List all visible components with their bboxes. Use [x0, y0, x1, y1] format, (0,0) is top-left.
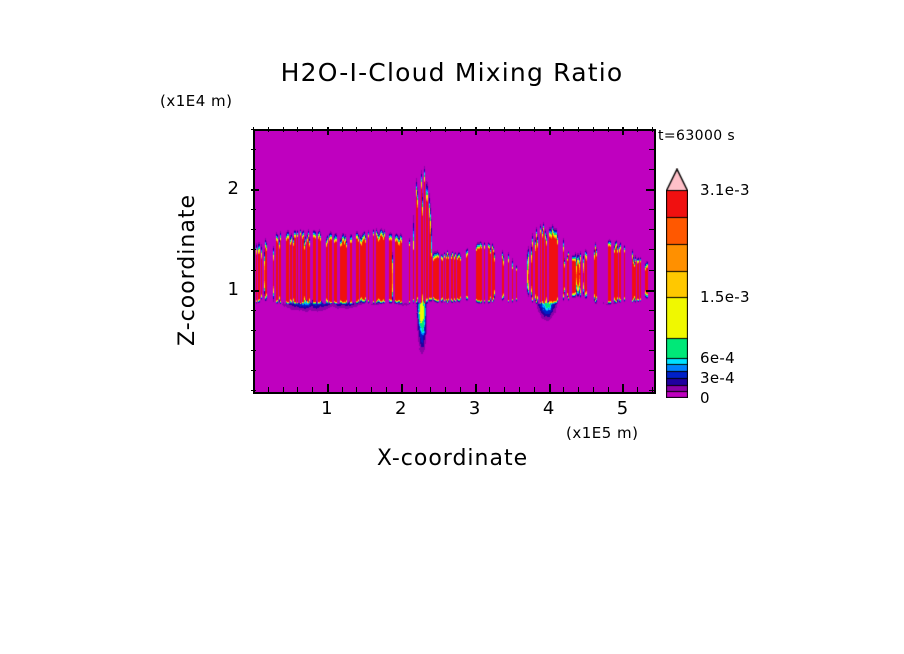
tick-mark — [251, 169, 256, 170]
tick-mark — [489, 127, 490, 132]
tick-mark — [251, 350, 256, 351]
x-tick-label: 4 — [529, 398, 569, 419]
tick-mark — [460, 127, 461, 132]
tick-mark — [401, 384, 403, 392]
tick-mark — [283, 387, 284, 392]
tick-mark — [578, 127, 579, 132]
tick-mark — [489, 387, 490, 392]
tick-mark — [608, 127, 609, 132]
tick-mark — [401, 127, 403, 135]
tick-mark — [342, 387, 343, 392]
tick-mark — [251, 290, 259, 292]
tick-mark — [649, 270, 654, 271]
tick-mark — [578, 387, 579, 392]
tick-mark — [649, 310, 654, 311]
x-tick-label: 5 — [602, 398, 642, 419]
tick-mark — [460, 387, 461, 392]
tick-mark — [475, 384, 477, 392]
colorbar-tick-label: 0 — [700, 389, 710, 407]
tick-mark — [251, 129, 256, 130]
tick-mark — [416, 387, 417, 392]
tick-mark — [251, 249, 256, 250]
tick-mark — [504, 127, 505, 132]
tick-mark — [649, 370, 654, 371]
tick-mark — [637, 127, 638, 132]
colorbar-tick-label: 3e-4 — [700, 369, 735, 387]
tick-mark — [251, 390, 256, 391]
tick-mark — [251, 229, 256, 230]
tick-mark — [649, 350, 654, 351]
tick-mark — [649, 129, 654, 130]
tick-mark — [649, 169, 654, 170]
colorbar-gradient — [666, 168, 688, 398]
tick-mark — [327, 384, 329, 392]
tick-mark — [549, 384, 551, 392]
tick-mark — [283, 127, 284, 132]
tick-mark — [386, 127, 387, 132]
tick-mark — [593, 127, 594, 132]
tick-mark — [519, 387, 520, 392]
x-tick-label: 2 — [381, 398, 421, 419]
tick-mark — [251, 189, 259, 191]
colorbar-tick-label: 3.1e-3 — [700, 181, 750, 199]
tick-mark — [386, 387, 387, 392]
colorbar-tick-label: 1.5e-3 — [700, 288, 750, 306]
tick-mark — [268, 127, 269, 132]
tick-mark — [251, 209, 256, 210]
y-tick-label: 1 — [207, 279, 239, 300]
tick-mark — [342, 127, 343, 132]
tick-mark — [251, 149, 256, 150]
tick-mark — [622, 127, 624, 135]
tick-mark — [297, 127, 298, 132]
tick-mark — [534, 387, 535, 392]
tick-mark — [268, 387, 269, 392]
tick-mark — [519, 127, 520, 132]
tick-mark — [327, 127, 329, 135]
tick-mark — [475, 127, 477, 135]
tick-mark — [430, 127, 431, 132]
page-title: H2O-I-Cloud Mixing Ratio — [0, 58, 904, 87]
tick-mark — [608, 387, 609, 392]
tick-mark — [371, 127, 372, 132]
tick-mark — [430, 387, 431, 392]
x-axis-units: (x1E5 m) — [566, 424, 639, 442]
tick-mark — [646, 189, 654, 191]
tick-mark — [312, 127, 313, 132]
tick-mark — [251, 310, 256, 311]
y-tick-label: 2 — [207, 178, 239, 199]
tick-mark — [649, 390, 654, 391]
tick-mark — [251, 370, 256, 371]
timestamp-annotation: t=63000 s — [658, 128, 735, 144]
tick-mark — [649, 330, 654, 331]
title-text: H2O-I-Cloud Mixing Ratio — [281, 58, 624, 87]
tick-mark — [312, 387, 313, 392]
plot-area[interactable] — [253, 129, 656, 394]
tick-mark — [371, 387, 372, 392]
tick-mark — [356, 127, 357, 132]
tick-mark — [297, 387, 298, 392]
tick-mark — [563, 387, 564, 392]
x-axis-label: X-coordinate — [253, 446, 652, 471]
tick-mark — [445, 127, 446, 132]
y-axis-label: Z-coordinate — [175, 70, 200, 470]
contour-field — [255, 131, 654, 392]
tick-mark — [637, 387, 638, 392]
tick-mark — [549, 127, 551, 135]
tick-mark — [356, 387, 357, 392]
tick-mark — [534, 127, 535, 132]
colorbar[interactable] — [666, 168, 688, 398]
tick-mark — [649, 229, 654, 230]
x-tick-label: 3 — [455, 398, 495, 419]
figure-canvas: H2O-I-Cloud Mixing Ratio (x1E4 m) (x1E5 … — [0, 0, 904, 654]
tick-mark — [649, 209, 654, 210]
tick-mark — [504, 387, 505, 392]
tick-mark — [646, 290, 654, 292]
tick-mark — [649, 149, 654, 150]
tick-mark — [445, 387, 446, 392]
tick-mark — [593, 387, 594, 392]
tick-mark — [416, 127, 417, 132]
colorbar-tick-label: 6e-4 — [700, 349, 735, 367]
tick-mark — [251, 270, 256, 271]
x-tick-label: 1 — [307, 398, 347, 419]
tick-mark — [251, 330, 256, 331]
tick-mark — [563, 127, 564, 132]
tick-mark — [622, 384, 624, 392]
tick-mark — [649, 249, 654, 250]
